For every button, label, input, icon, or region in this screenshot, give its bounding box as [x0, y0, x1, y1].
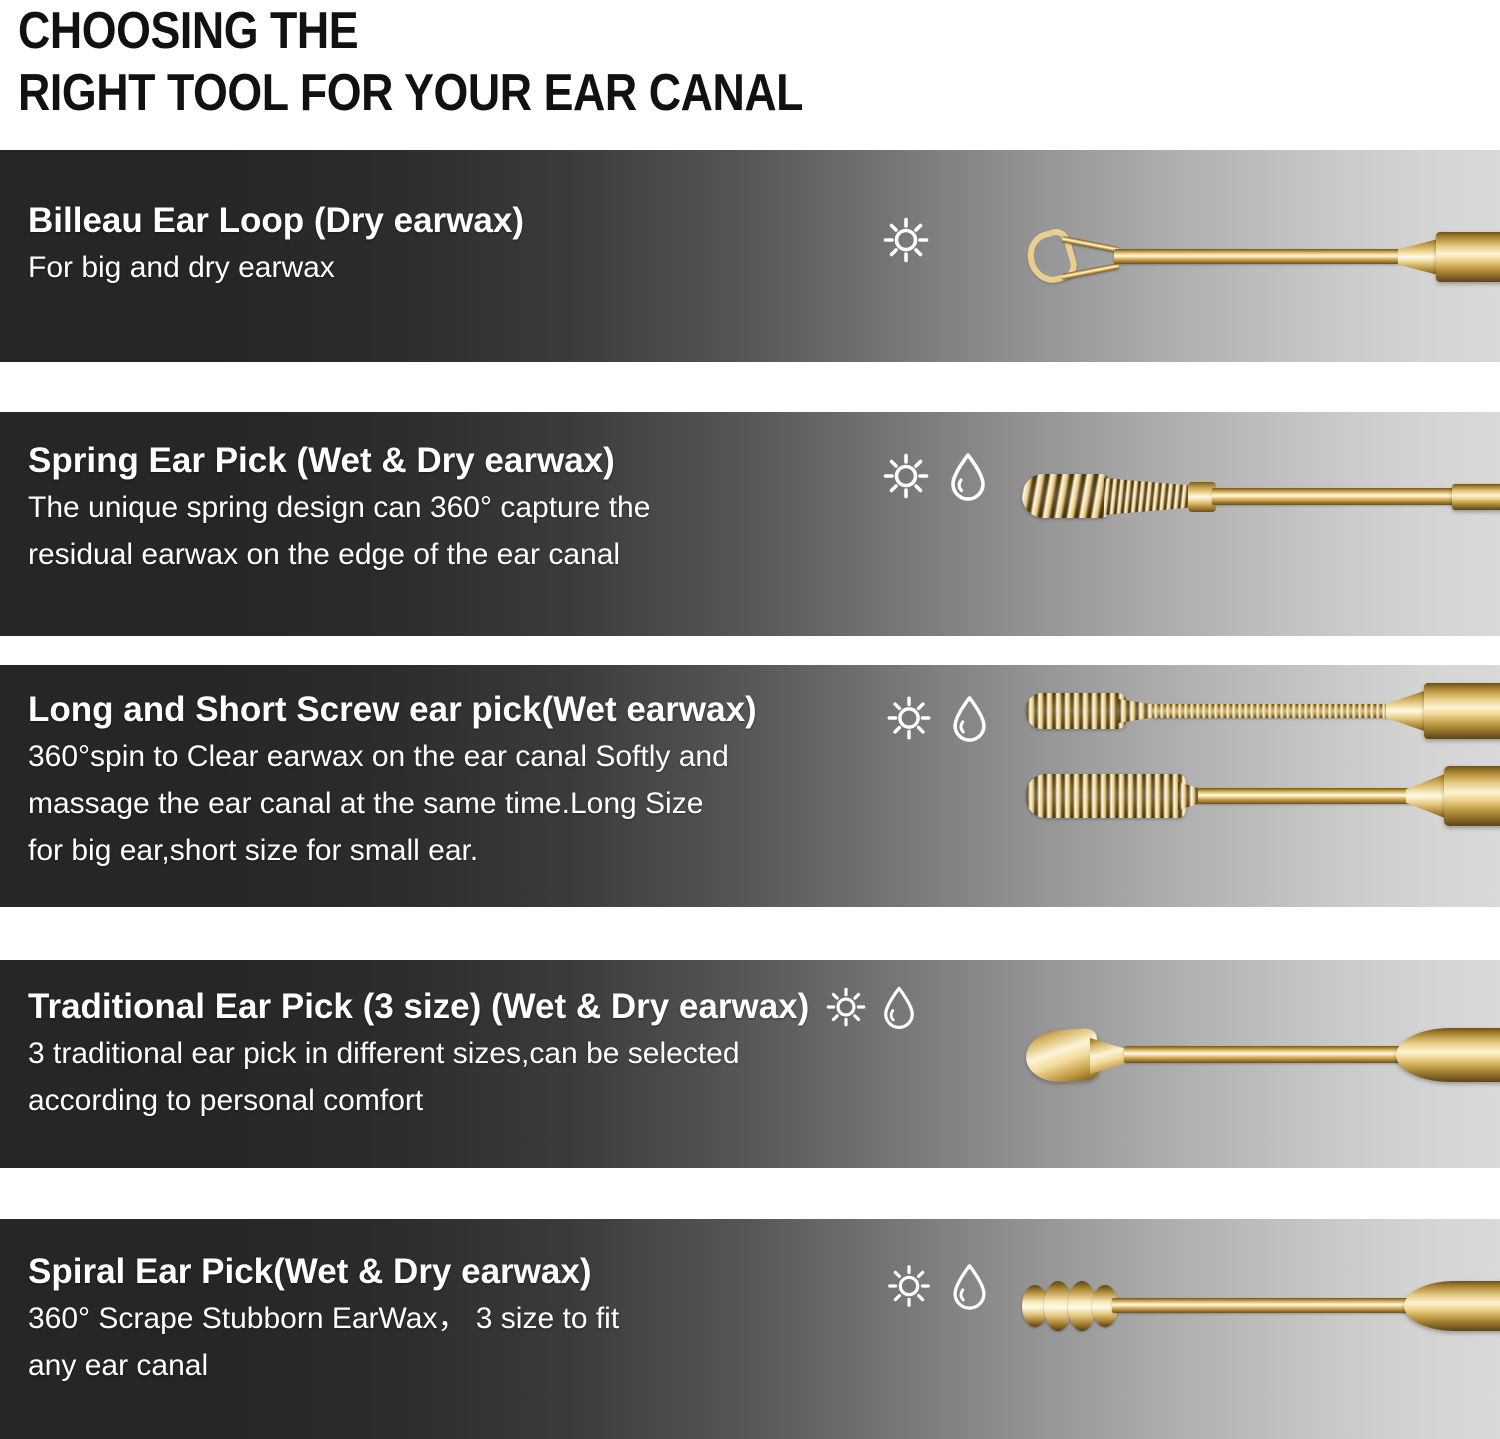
tool-illustration-billeau-loop [1000, 150, 1500, 362]
tool-shaft [1112, 1298, 1412, 1313]
screw-thread-long-taper [1178, 782, 1206, 810]
sun-icon [880, 214, 932, 266]
page-title: CHOOSING THE RIGHT TOOL FOR YOUR EAR CAN… [18, 0, 1418, 124]
infographic-page: CHOOSING THE RIGHT TOOL FOR YOUR EAR CAN… [0, 0, 1500, 1439]
row-text-block: Spring Ear Pick (Wet & Dry earwax) The u… [28, 438, 650, 578]
water-drop-icon [881, 984, 917, 1030]
scoop-head [1024, 1028, 1099, 1085]
row-description-line: For big and dry earwax [28, 244, 524, 291]
row-description-line: for big ear,short size for small ear. [28, 827, 757, 874]
row-title-text: Long and Short Screw ear pick(Wet earwax… [28, 687, 757, 733]
spiral-ring-3 [1068, 1281, 1096, 1331]
tool-handle [1436, 232, 1500, 282]
row-description-line: 360° Scrape Stubborn EarWax， 3 size to f… [28, 1295, 619, 1342]
row-icon-group [880, 450, 988, 502]
row-icon-group [884, 693, 989, 743]
row-title: Spring Ear Pick (Wet & Dry earwax) [28, 438, 650, 484]
handle-taper [1398, 238, 1442, 276]
row-description-line: 3 traditional ear pick in different size… [28, 1030, 917, 1077]
loop-neck-upper [1061, 236, 1119, 253]
tool-shaft [1114, 249, 1414, 264]
tool-illustration-spiral-pick [1000, 1219, 1500, 1439]
row-title: Billeau Ear Loop (Dry earwax) [28, 198, 524, 244]
row-description-line: 360°spin to Clear earwax on the ear cana… [28, 733, 757, 780]
handle-taper [1406, 772, 1450, 820]
tool-shaft [1152, 704, 1394, 718]
tool-illustration-screw-picks [1000, 665, 1500, 907]
sun-icon [880, 450, 932, 502]
row-title: Spiral Ear Pick(Wet & Dry earwax) [28, 1249, 619, 1295]
screw-pick-short [1000, 673, 1500, 753]
row-description-line: massage the ear canal at the same time.L… [28, 780, 757, 827]
sun-icon [823, 984, 869, 1030]
row-icon-group [823, 984, 917, 1030]
sun-icon [884, 693, 934, 743]
product-row-billeau-ear-loop: Billeau Ear Loop (Dry earwax) For big an… [0, 150, 1500, 362]
product-row-spiral-ear-pick: Spiral Ear Pick(Wet & Dry earwax) 360° S… [0, 1219, 1500, 1439]
sun-icon [884, 1261, 934, 1311]
page-title-line-2: RIGHT TOOL FOR YOUR EAR CANAL [18, 62, 1222, 124]
row-text-block: Spiral Ear Pick(Wet & Dry earwax) 360° S… [28, 1249, 619, 1389]
water-drop-icon [950, 693, 989, 743]
row-icon-group [880, 214, 932, 266]
row-title-text: Spiral Ear Pick(Wet & Dry earwax) [28, 1249, 592, 1295]
tool-shaft [1124, 1046, 1406, 1063]
row-text-block: Billeau Ear Loop (Dry earwax) For big an… [28, 198, 524, 291]
tool-handle [1404, 1281, 1500, 1331]
row-text-block: Traditional Ear Pick (3 size) (Wet & Dry… [28, 984, 917, 1124]
product-row-screw-ear-pick: Long and Short Screw ear pick(Wet earwax… [0, 665, 1500, 907]
spiral-ring-2 [1044, 1281, 1072, 1331]
tool-handle [1424, 683, 1500, 739]
tool-illustration-traditional-pick [1000, 960, 1500, 1168]
row-title-text: Spring Ear Pick (Wet & Dry earwax) [28, 438, 615, 484]
scoop-neck [1090, 1038, 1130, 1074]
water-drop-icon [948, 450, 988, 502]
row-description-line: residual earwax on the edge of the ear c… [28, 531, 650, 578]
tool-shaft [1212, 488, 1462, 505]
spring-coil-wide [1022, 474, 1108, 518]
tool-handle [1452, 484, 1500, 510]
row-description-line: The unique spring design can 360° captur… [28, 484, 650, 531]
tool-handle [1444, 766, 1500, 826]
spiral-ring-1 [1022, 1285, 1048, 1327]
loop-neck-lower [1061, 263, 1119, 280]
screw-thread-long [1026, 774, 1186, 818]
row-title: Traditional Ear Pick (3 size) (Wet & Dry… [28, 984, 917, 1030]
spring-coil-tapered [1104, 478, 1190, 515]
row-title-text: Billeau Ear Loop (Dry earwax) [28, 198, 524, 244]
row-title-text: Traditional Ear Pick (3 size) (Wet & Dry… [28, 984, 809, 1030]
screw-thread-short [1026, 693, 1126, 729]
row-text-block: Long and Short Screw ear pick(Wet earwax… [28, 687, 757, 874]
wire-loop-head [1022, 226, 1081, 289]
tool-shaft [1198, 788, 1414, 804]
water-drop-icon [950, 1261, 989, 1311]
screw-thread-short-taper [1118, 699, 1160, 723]
spring-collar [1188, 482, 1216, 512]
product-row-traditional-ear-pick: Traditional Ear Pick (3 size) (Wet & Dry… [0, 960, 1500, 1168]
spiral-ring-4 [1092, 1285, 1118, 1327]
tool-illustration-spring-pick [1000, 412, 1500, 636]
row-icon-group [884, 1261, 989, 1311]
row-description-line: according to personal comfort [28, 1077, 917, 1124]
tool-handle [1396, 1028, 1500, 1082]
handle-taper [1386, 689, 1430, 733]
screw-pick-long [1000, 760, 1500, 840]
row-description-line: any ear canal [28, 1342, 619, 1389]
page-title-line-1: CHOOSING THE [18, 0, 1222, 62]
row-title: Long and Short Screw ear pick(Wet earwax… [28, 687, 757, 733]
product-row-spring-ear-pick: Spring Ear Pick (Wet & Dry earwax) The u… [0, 412, 1500, 636]
